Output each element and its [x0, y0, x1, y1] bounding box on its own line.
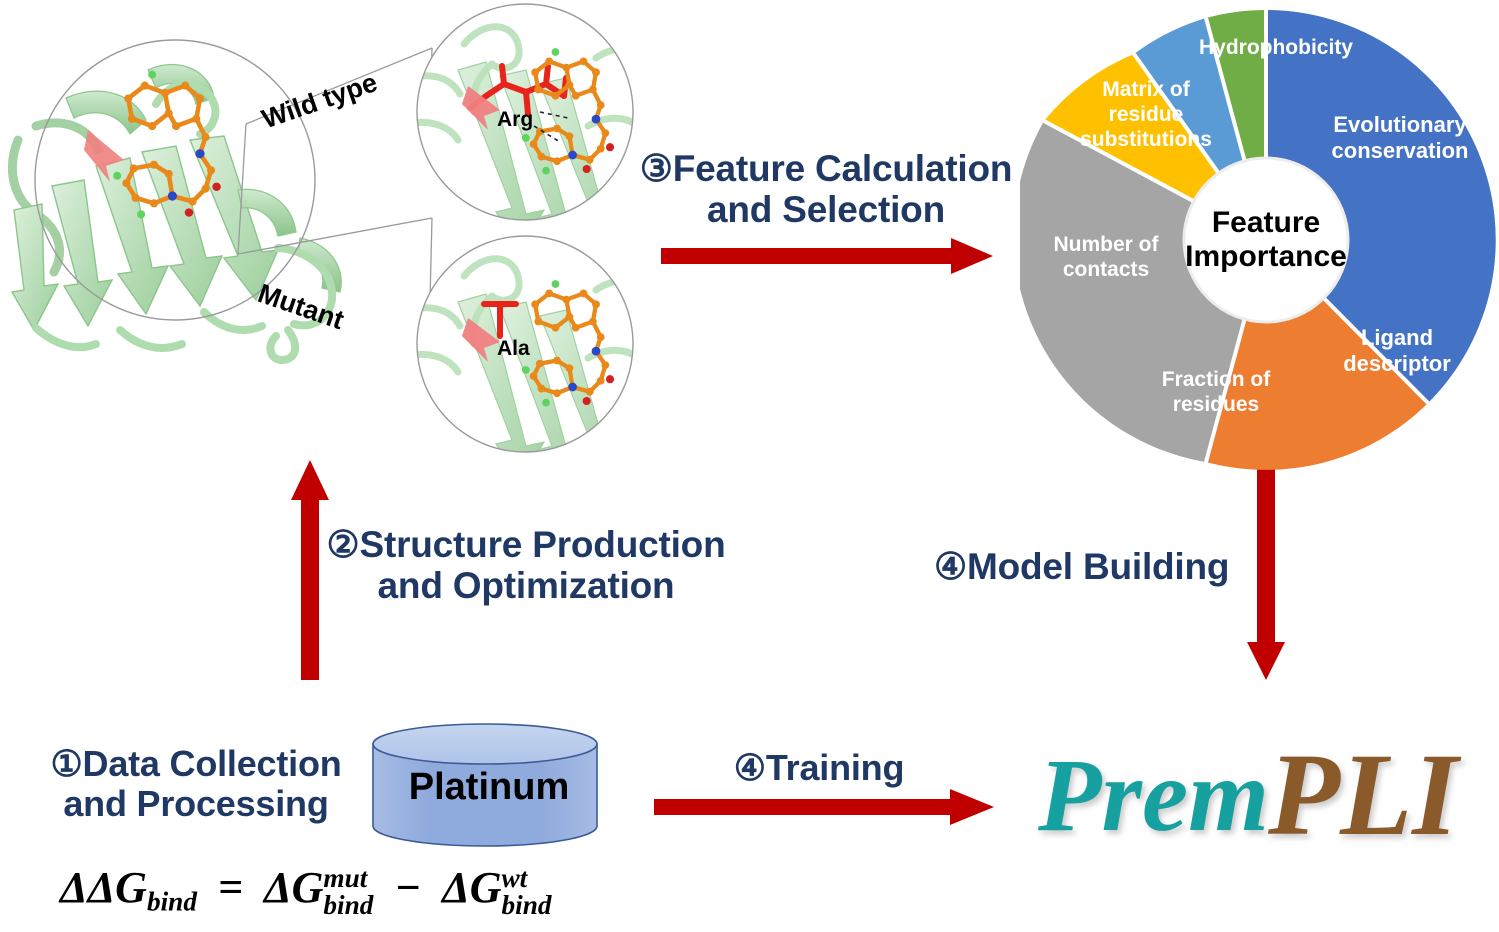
logo-part1: Prem — [1037, 738, 1269, 853]
step-3-text: Feature Calculation and Selection — [673, 148, 1013, 230]
step-3-label: ③Feature Calculation and Selection — [628, 148, 1024, 231]
label-number-of-contacts-2: contacts — [1063, 258, 1149, 281]
label-evolutionary-conservation-1: Evolutionary — [1333, 112, 1467, 137]
equation-lhs-delta: ΔΔG — [60, 863, 147, 912]
binding-energy-equation: ΔΔGbind = ΔGmutbind − ΔGwtbind — [60, 862, 552, 919]
label-fraction-of-residues-1: Fraction of — [1162, 368, 1272, 391]
label-hydrophobicity: Hydrophobicity — [1199, 36, 1353, 59]
equation-term1: ΔGmutbind — [264, 863, 373, 912]
equation-term1-delta: ΔG — [264, 863, 323, 912]
equation-lhs: ΔΔGbind — [60, 863, 197, 912]
step-1-number: ① — [50, 743, 82, 784]
step-4-model-label: ④Model Building — [934, 546, 1264, 587]
logo-part2: PLI — [1267, 730, 1462, 860]
label-matrix-2: residue — [1109, 103, 1184, 126]
step-4-training-label: ④Training — [654, 748, 984, 788]
label-matrix-1: Matrix of — [1102, 78, 1191, 101]
equation-term2-delta: ΔG — [442, 863, 501, 912]
equation-term1-sup: mut — [323, 865, 373, 892]
mutant-residue-label: Ala — [497, 337, 530, 361]
equation-term2-sub: bind — [501, 892, 551, 919]
donut-center-line2: Importance — [1185, 240, 1347, 273]
platinum-label: Platinum — [373, 766, 605, 809]
equation-minus: − — [384, 863, 431, 912]
step-3-number: ③ — [640, 148, 673, 189]
premPLI-logo: Prem PLI — [1030, 730, 1490, 870]
equation-term2-supsub: wtbind — [501, 865, 551, 920]
label-number-of-contacts-1: Number of — [1054, 233, 1160, 256]
label-ligand-descriptor-2: descriptor — [1343, 351, 1451, 376]
arrow-step2 — [288, 458, 334, 684]
equation-lhs-sub: bind — [147, 887, 197, 917]
equation-term2-sup: wt — [501, 865, 551, 892]
arrow-step4-model — [1244, 466, 1290, 684]
step-2-label: ②Structure Production and Optimization — [316, 524, 736, 607]
label-ligand-descriptor-1: Ligand — [1361, 325, 1433, 350]
label-matrix-3: substitutions — [1080, 128, 1212, 151]
step-4-training-number: ④ — [734, 747, 766, 788]
equation-term1-sub: bind — [323, 892, 373, 919]
equation-term2: ΔGwtbind — [442, 863, 551, 912]
wild-type-residue-label: Arg — [497, 108, 533, 132]
label-evolutionary-conservation-2: conservation — [1332, 138, 1469, 163]
feature-importance-donut-chart: Feature Importance Evolutionary conserva… — [1020, 0, 1499, 476]
step-4-training-text: Training — [766, 747, 904, 788]
step-1-text: Data Collection and Processing — [63, 743, 341, 824]
label-fraction-of-residues-2: residues — [1173, 393, 1259, 416]
donut-center-line1: Feature — [1212, 206, 1320, 239]
equation-equals: = — [208, 863, 253, 912]
arrow-step3 — [655, 234, 1000, 278]
step-2-text: Structure Production and Optimization — [359, 524, 725, 606]
figure-canvas: Arg — [0, 0, 1499, 932]
arrow-step4-training — [650, 786, 1000, 830]
step-4-model-text: Model Building — [967, 546, 1229, 587]
step-1-label: ①Data Collection and Processing — [36, 744, 356, 825]
equation-term1-supsub: mutbind — [323, 865, 373, 920]
step-4-model-number: ④ — [934, 546, 967, 587]
